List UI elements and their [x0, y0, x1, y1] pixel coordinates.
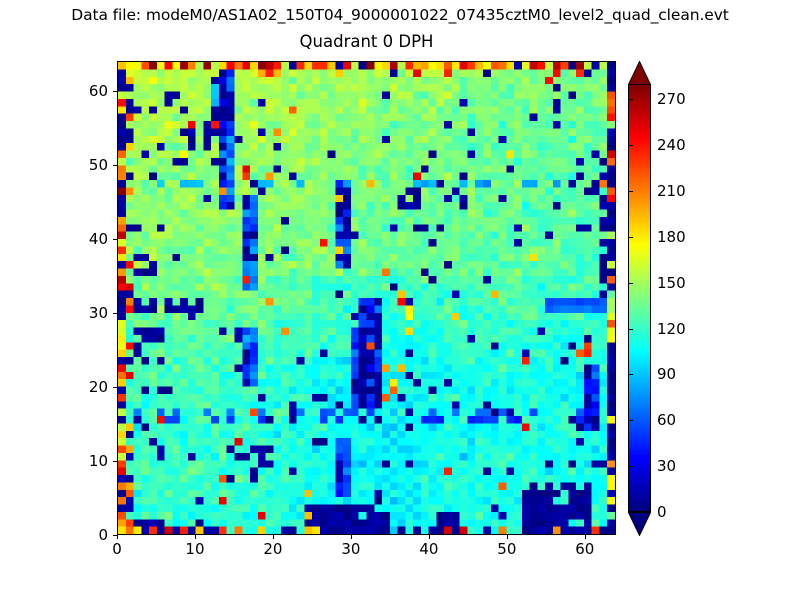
colorbar-tick-mark: [628, 283, 633, 284]
colorbar-tick-mark: [628, 237, 633, 238]
x-tick-mark: [585, 535, 586, 539]
y-tick-mark: [113, 91, 117, 92]
x-tick-label: 50: [477, 540, 537, 558]
x-tick-mark: [273, 535, 274, 539]
colorbar-tick-label: 60: [657, 411, 676, 429]
x-tick-mark: [429, 535, 430, 539]
colorbar-tick-mark: [628, 191, 633, 192]
colorbar-tick-label: 270: [657, 90, 686, 108]
y-tick-label: 20: [58, 378, 108, 396]
colorbar-tick-mark: [628, 420, 633, 421]
y-tick-mark: [113, 313, 117, 314]
y-tick-mark: [113, 387, 117, 388]
heatmap-image: [118, 62, 615, 534]
y-tick-label: 10: [58, 452, 108, 470]
colorbar-tick-label: 120: [657, 320, 686, 338]
colorbar-tick-mark: [628, 374, 633, 375]
colorbar-tick-mark: [628, 512, 633, 513]
y-tick-mark: [113, 239, 117, 240]
x-tick-label: 40: [399, 540, 459, 558]
colorbar-tick-label: 240: [657, 136, 686, 154]
colorbar-tick-label: 210: [657, 182, 686, 200]
x-tick-mark: [117, 535, 118, 539]
x-tick-label: 60: [555, 540, 615, 558]
y-tick-mark: [113, 535, 117, 536]
y-tick-label: 30: [58, 304, 108, 322]
figure-suptitle: Data file: modeM0/AS1A02_150T04_90000010…: [0, 6, 800, 24]
x-tick-label: 10: [165, 540, 225, 558]
x-tick-label: 30: [321, 540, 381, 558]
axes-title: Quadrant 0 DPH: [117, 32, 616, 51]
colorbar-tick-label: 150: [657, 274, 686, 292]
colorbar: [628, 61, 651, 535]
y-tick-mark: [113, 165, 117, 166]
colorbar-tick-label: 90: [657, 365, 676, 383]
colorbar-tick-label: 0: [657, 503, 667, 521]
colorbar-tick-mark: [628, 329, 633, 330]
colorbar-min-arrow-icon: [628, 512, 651, 536]
colorbar-gradient: [628, 84, 651, 512]
x-tick-label: 20: [243, 540, 303, 558]
colorbar-tick-mark: [628, 145, 633, 146]
x-tick-mark: [351, 535, 352, 539]
x-tick-mark: [195, 535, 196, 539]
colorbar-max-arrow-icon: [628, 61, 651, 85]
colorbar-tick-mark: [628, 99, 633, 100]
colorbar-tick-mark: [628, 466, 633, 467]
y-tick-label: 60: [58, 82, 108, 100]
y-tick-label: 40: [58, 230, 108, 248]
y-tick-label: 50: [58, 156, 108, 174]
colorbar-tick-label: 30: [657, 457, 676, 475]
x-tick-mark: [507, 535, 508, 539]
colorbar-tick-label: 180: [657, 228, 686, 246]
y-tick-mark: [113, 461, 117, 462]
y-tick-label: 0: [58, 526, 108, 544]
figure-canvas: Data file: modeM0/AS1A02_150T04_90000010…: [0, 0, 800, 600]
heatmap-axes: [117, 61, 616, 535]
